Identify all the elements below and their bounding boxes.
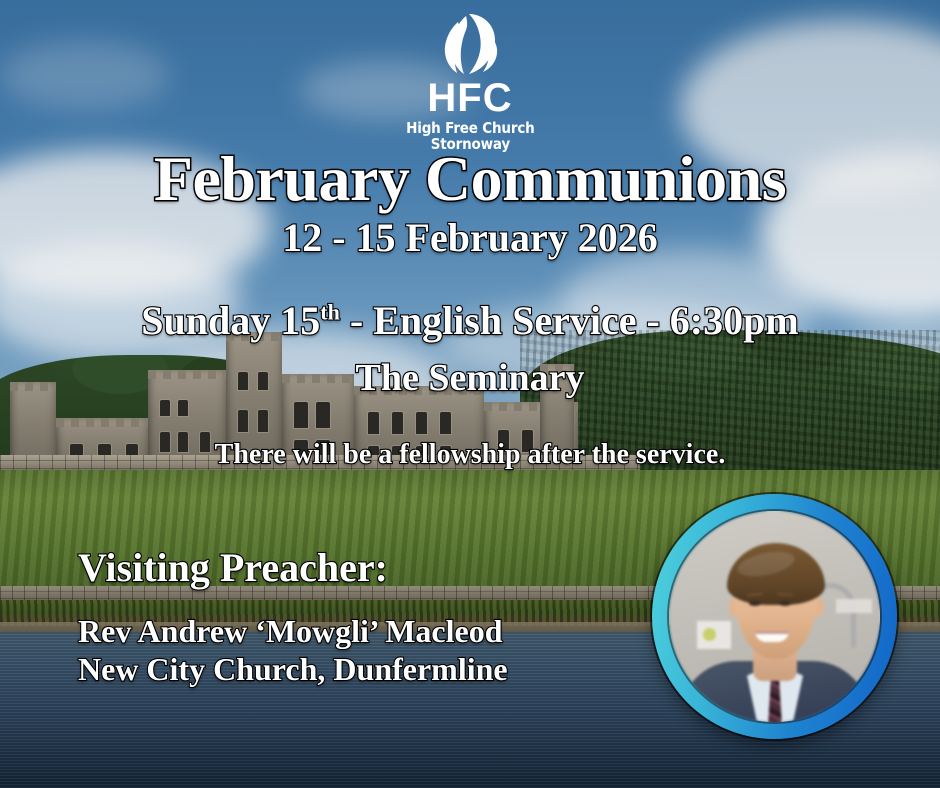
preacher-church: New City Church, Dunfermline (78, 650, 508, 688)
date-range: 12 - 15 February 2026 (0, 216, 940, 260)
preacher-portrait (669, 511, 880, 722)
service-line: Sunday 15th - English Service - 6:30pm (0, 298, 940, 344)
preacher-name: Rev Andrew ‘Mowgli’ Macleod (78, 613, 503, 649)
service-detail: - English Service - 6:30pm (340, 298, 799, 343)
service-venue: The Seminary (0, 356, 940, 400)
visiting-preacher-label: Visiting Preacher: (78, 545, 388, 591)
communion-announcement-poster: HFC High Free Church Stornoway February … (0, 0, 940, 788)
preacher-details: Rev Andrew ‘Mowgli’ Macleod New City Chu… (78, 612, 508, 688)
hfc-logo: HFC High Free Church Stornoway (0, 12, 940, 152)
page-title: February Communions (0, 146, 940, 212)
leaf-flame-logo-icon (433, 12, 507, 76)
fellowship-note: There will be a fellowship after the ser… (0, 438, 940, 472)
poster-content: HFC High Free Church Stornoway February … (0, 0, 940, 788)
logo-acronym: HFC (427, 78, 512, 118)
service-day-ordinal: th (320, 300, 340, 325)
preacher-portrait-ring (652, 494, 897, 739)
portrait-softening (669, 511, 880, 722)
service-day: Sunday 15 (141, 298, 320, 343)
